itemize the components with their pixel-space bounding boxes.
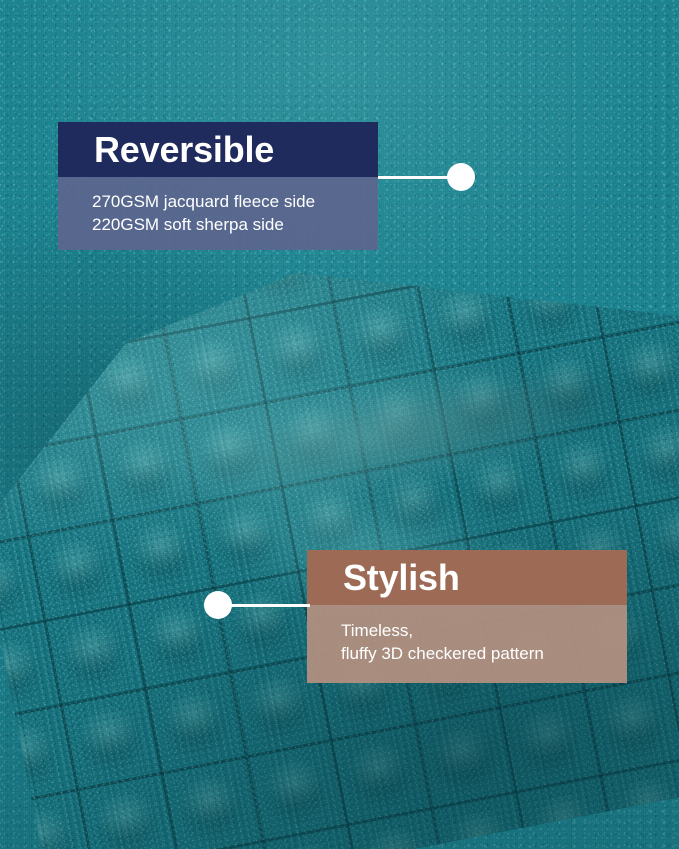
leader-line-reversible xyxy=(378,176,454,179)
callout-reversible-body: 270GSM jacquard fleece side 220GSM soft … xyxy=(58,177,378,250)
callout-stylish-title: Stylish xyxy=(307,550,627,605)
leader-dot-stylish xyxy=(204,591,232,619)
callout-stylish: Stylish Timeless, fluffy 3D checkered pa… xyxy=(307,550,627,683)
leader-line-stylish xyxy=(230,604,310,607)
callout-reversible: Reversible 270GSM jacquard fleece side 2… xyxy=(58,122,378,250)
callout-reversible-title: Reversible xyxy=(58,122,378,177)
product-infographic: Reversible 270GSM jacquard fleece side 2… xyxy=(0,0,679,849)
callout-stylish-body: Timeless, fluffy 3D checkered pattern xyxy=(307,605,627,683)
leader-dot-reversible xyxy=(447,163,475,191)
